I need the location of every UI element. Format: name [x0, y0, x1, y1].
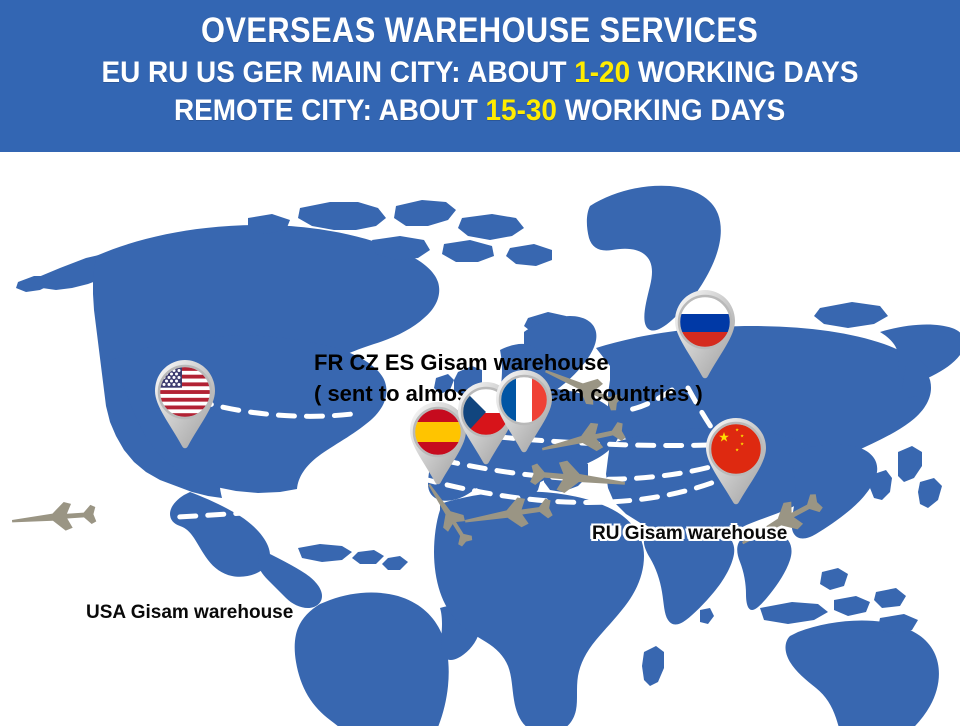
banner-line1-suffix: WORKING DAYS [630, 56, 858, 89]
world-map-area: FR CZ ES Gisam warehouse ( sent to almos… [0, 152, 960, 726]
ru-warehouse-label: RU Gisam warehouse [592, 523, 787, 545]
banner-subtitle-main-city: EU RU US GER MAIN CITY: ABOUT 1-20 WORKI… [101, 55, 858, 91]
banner-line1-highlight: 1-20 [574, 56, 630, 89]
banner-line1-prefix: EU RU US GER MAIN CITY: ABOUT [101, 56, 574, 89]
map-pin-france[interactable] [490, 368, 558, 458]
usa-warehouse-label: USA Gisam warehouse [86, 602, 293, 624]
banner-line2-suffix: WORKING DAYS [557, 94, 785, 127]
map-pin-china[interactable] [700, 416, 772, 510]
map-pin-usa[interactable] [148, 358, 222, 454]
route-southern [12, 496, 430, 524]
banner-line2-highlight: 15-30 [486, 94, 557, 127]
plane-icon-6 [11, 500, 97, 535]
banner-subtitle-remote-city: REMOTE CITY: ABOUT 15-30 WORKING DAYS [174, 93, 785, 129]
banner-line2-prefix: REMOTE CITY: ABOUT [174, 94, 486, 127]
header-banner: OVERSEAS WAREHOUSE SERVICES EU RU US GER… [0, 0, 960, 152]
map-pin-russia[interactable] [668, 288, 742, 384]
page-title: OVERSEAS WAREHOUSE SERVICES [201, 11, 758, 51]
